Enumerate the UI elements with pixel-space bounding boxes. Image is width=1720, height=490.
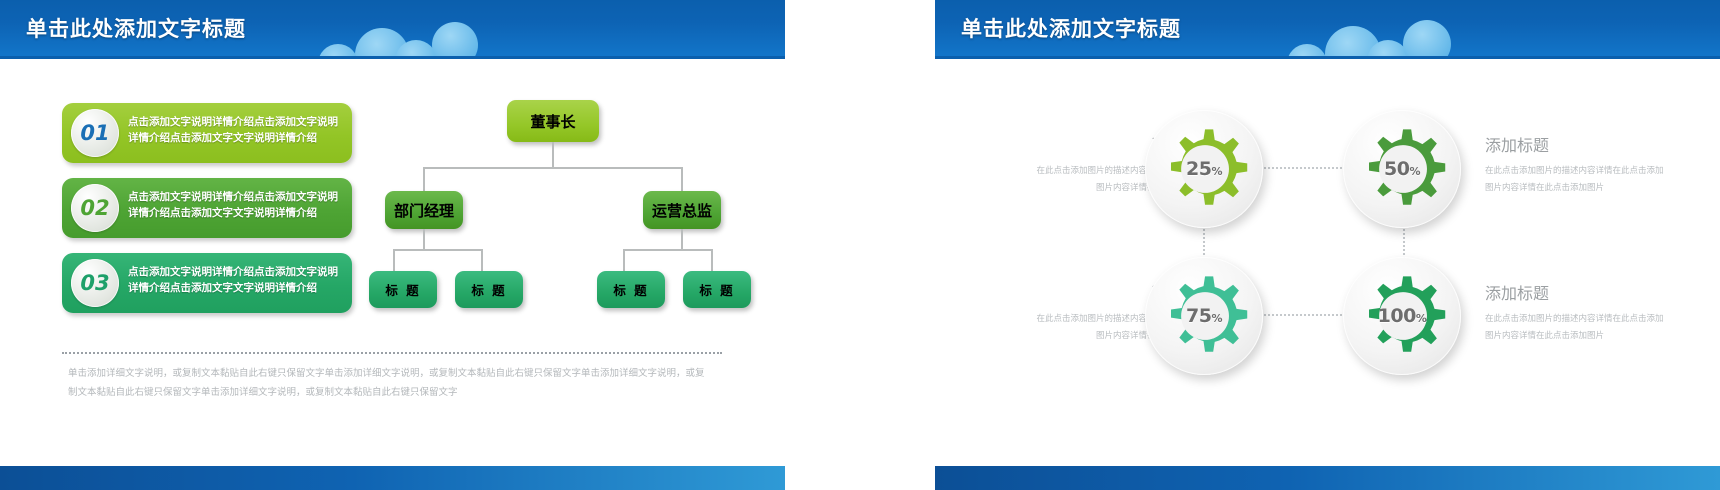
page-title: 单击此处添加文字标题 [961,13,1181,43]
slide-header-left: 单击此处添加文字标题 [0,0,785,56]
item-number-badge: 03 [71,259,119,307]
connector-line [681,229,683,249]
cloud-icon [318,44,358,56]
gear-title: 添加标题 [1485,280,1665,304]
connector-line [423,229,425,249]
gear-badge[interactable]: 25% [1145,110,1263,228]
slide-left: 单击此处添加文字标题 01 点击添加文字说明详情介绍点击添加文字说明详情介绍点击… [0,0,785,490]
cloud-icon [1287,44,1327,56]
gear-text-block: 添加标题 在此点击添加图片的描述内容详情在此点击添加图片内容详情在此点击添加图片 [1485,132,1665,196]
connector-line [393,249,395,271]
gear-title: 添加标题 [1485,132,1665,156]
org-node-leaf[interactable]: 标 题 [597,271,665,308]
item-number-badge: 01 [71,109,119,157]
connector-line [393,249,483,251]
connector-dotted [1253,314,1353,316]
connector-line [623,249,625,271]
list-item-label: 点击添加文字说明详情介绍点击添加文字说明详情介绍点击添加文字文字说明详情介绍 [128,114,344,147]
org-chart: 董事长 部门经理 运营总监 标 题 标 题 标 题 标 题 [375,95,750,325]
gear-infographic: 添加标题 在此点击添加图片的描述内容详情在此点击添加图片内容详情在此点击添加图片… [935,62,1720,442]
connector-dotted [1253,167,1353,169]
slide-footer-right [935,466,1720,490]
presentation-slides-view: 单击此处添加文字标题 01 点击添加文字说明详情介绍点击添加文字说明详情介绍点击… [0,0,1720,490]
list-item[interactable]: 02 点击添加文字说明详情介绍点击添加文字说明详情介绍点击添加文字文字说明详情介… [62,178,352,238]
gear-description: 在此点击添加图片的描述内容详情在此点击添加图片内容详情在此点击添加图片 [1485,163,1665,196]
gear-badge[interactable]: 75% [1145,257,1263,375]
gear-percent: 75% [1186,305,1222,327]
connector-line [481,249,483,271]
org-node-root[interactable]: 董事长 [507,100,599,142]
org-node-leaf[interactable]: 标 题 [683,271,751,308]
connector-line [681,167,683,191]
page-title: 单击此处添加文字标题 [26,13,246,43]
gear-text-block: 添加标题 在此点击添加图片的描述内容详情在此点击添加图片内容详情在此点击添加图片 [1485,280,1665,344]
connector-line [423,167,683,169]
connector-line [623,249,713,251]
list-item[interactable]: 01 点击添加文字说明详情介绍点击添加文字说明详情介绍点击添加文字文字说明详情介… [62,103,352,163]
gear-percent: 25% [1186,158,1222,180]
slide-header-right: 单击此处添加文字标题 [935,0,1720,56]
gear-description: 在此点击添加图片的描述内容详情在此点击添加图片内容详情在此点击添加图片 [1485,311,1665,344]
gear-badge[interactable]: 100% [1343,257,1461,375]
org-node-leaf[interactable]: 标 题 [455,271,523,308]
connector-line [711,249,713,271]
list-item-label: 点击添加文字说明详情介绍点击添加文字说明详情介绍点击添加文字文字说明详情介绍 [128,264,344,297]
gear-percent: 50% [1384,158,1420,180]
connector-line [423,167,425,191]
list-item-label: 点击添加文字说明详情介绍点击添加文字说明详情介绍点击添加文字文字说明详情介绍 [128,189,344,222]
org-node-leaf[interactable]: 标 题 [369,271,437,308]
cloud-icon [1403,20,1451,56]
gear-percent: 100% [1378,305,1427,327]
connector-line [552,142,554,167]
body-paragraph: 单击添加详细文字说明，或复制文本黏贴自此右键只保留文字单击添加详细文字说明，或复… [68,364,708,402]
item-number-badge: 02 [71,184,119,232]
slide-gutter [785,0,935,490]
slide-footer-left [0,466,785,490]
header-divider [935,56,1720,59]
section-divider [62,352,722,354]
slide-right: 单击此处添加文字标题 添加标题 在此点击添加图片的描述内容详情在此点击添加图片内… [935,0,1720,490]
numbered-list: 01 点击添加文字说明详情介绍点击添加文字说明详情介绍点击添加文字文字说明详情介… [62,103,352,328]
header-divider [0,56,785,59]
cloud-icon [432,22,478,56]
org-node-level2[interactable]: 部门经理 [385,191,463,229]
gear-badge[interactable]: 50% [1343,110,1461,228]
list-item[interactable]: 03 点击添加文字说明详情介绍点击添加文字说明详情介绍点击添加文字文字说明详情介… [62,253,352,313]
org-node-level2[interactable]: 运营总监 [643,191,721,229]
